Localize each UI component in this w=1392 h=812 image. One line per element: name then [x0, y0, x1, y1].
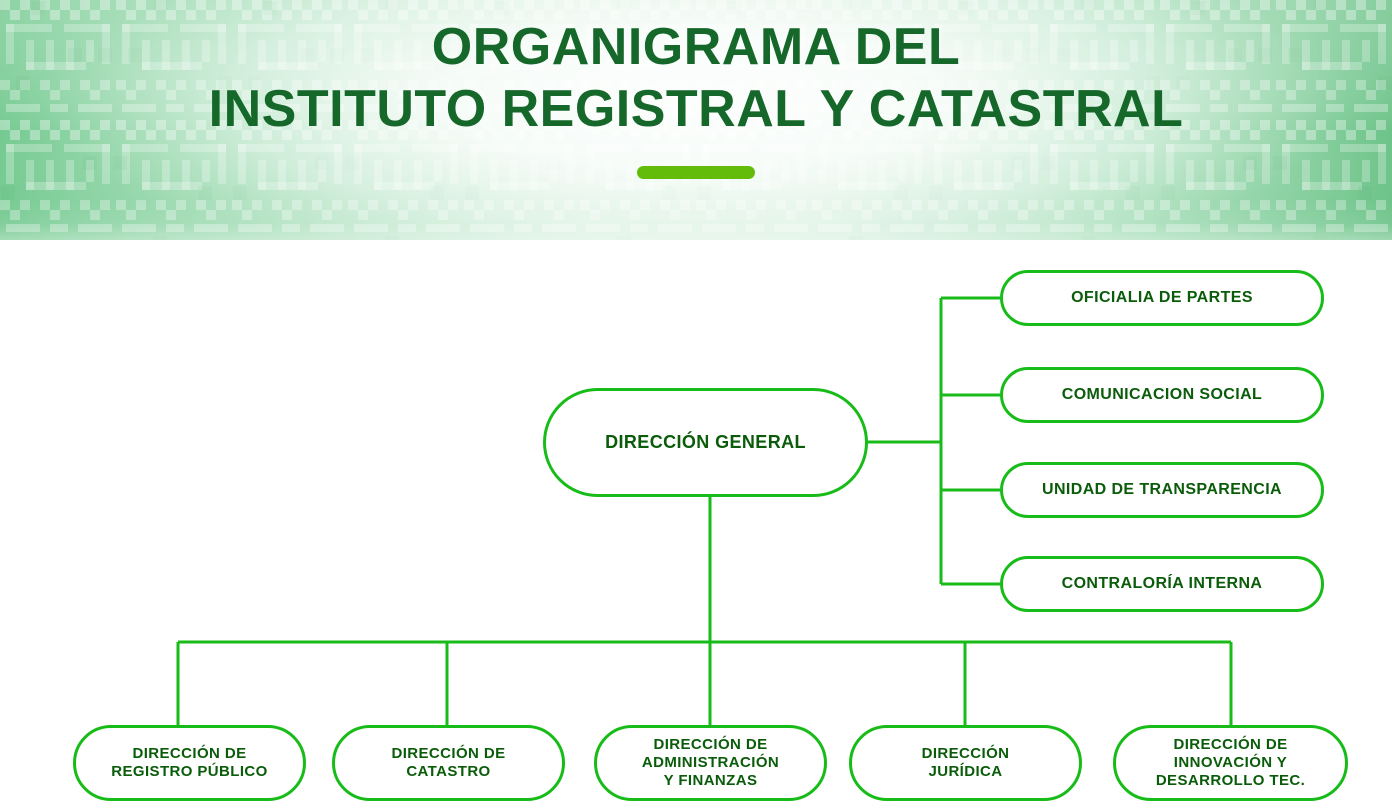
node-oficialia-de-partes-label: OFICIALIA DE PARTES	[1071, 289, 1253, 307]
node-direccion-de-catastro-label: DIRECCIÓN DE CATASTRO	[392, 745, 506, 781]
organigrama-page: ORGANIGRAMA DEL INSTITUTO REGISTRAL Y CA…	[0, 0, 1392, 812]
node-contraloria-interna[interactable]: CONTRALORÍA INTERNA	[1000, 556, 1324, 612]
org-chart: DIRECCIÓN GENERAL OFICIALIA DE PARTES CO…	[0, 240, 1392, 812]
title-accent-bar	[637, 166, 755, 179]
page-title-line-1: ORGANIGRAMA DEL	[0, 16, 1392, 78]
node-direccion-de-innovacion-y-desarrollo-tec-label: DIRECCIÓN DE INNOVACIÓN Y DESARROLLO TEC…	[1156, 736, 1305, 790]
node-direccion-de-innovacion-y-desarrollo-tec[interactable]: DIRECCIÓN DE INNOVACIÓN Y DESARROLLO TEC…	[1113, 725, 1348, 801]
node-direccion-de-catastro[interactable]: DIRECCIÓN DE CATASTRO	[332, 725, 565, 801]
node-direccion-juridica[interactable]: DIRECCIÓN JURÍDICA	[849, 725, 1082, 801]
node-direccion-de-registro-publico-label: DIRECCIÓN DE REGISTRO PÚBLICO	[111, 745, 267, 781]
page-title: ORGANIGRAMA DEL INSTITUTO REGISTRAL Y CA…	[0, 0, 1392, 179]
page-title-line-2: INSTITUTO REGISTRAL Y CATASTRAL	[0, 78, 1392, 140]
node-oficialia-de-partes[interactable]: OFICIALIA DE PARTES	[1000, 270, 1324, 326]
header-bottom-fade	[0, 200, 1392, 240]
node-direccion-general[interactable]: DIRECCIÓN GENERAL	[543, 388, 868, 497]
node-direccion-general-label: DIRECCIÓN GENERAL	[605, 432, 806, 453]
node-comunicacion-social[interactable]: COMUNICACION SOCIAL	[1000, 367, 1324, 423]
node-contraloria-interna-label: CONTRALORÍA INTERNA	[1062, 575, 1263, 593]
header-banner: ORGANIGRAMA DEL INSTITUTO REGISTRAL Y CA…	[0, 0, 1392, 240]
node-comunicacion-social-label: COMUNICACION SOCIAL	[1062, 386, 1262, 404]
node-unidad-de-transparencia-label: UNIDAD DE TRANSPARENCIA	[1042, 481, 1282, 499]
node-direccion-de-registro-publico[interactable]: DIRECCIÓN DE REGISTRO PÚBLICO	[73, 725, 306, 801]
node-direccion-juridica-label: DIRECCIÓN JURÍDICA	[922, 745, 1010, 781]
node-direccion-de-administracion-y-finanzas[interactable]: DIRECCIÓN DE ADMINISTRACIÓN Y FINANZAS	[594, 725, 827, 801]
node-direccion-de-administracion-y-finanzas-label: DIRECCIÓN DE ADMINISTRACIÓN Y FINANZAS	[642, 736, 779, 790]
node-unidad-de-transparencia[interactable]: UNIDAD DE TRANSPARENCIA	[1000, 462, 1324, 518]
